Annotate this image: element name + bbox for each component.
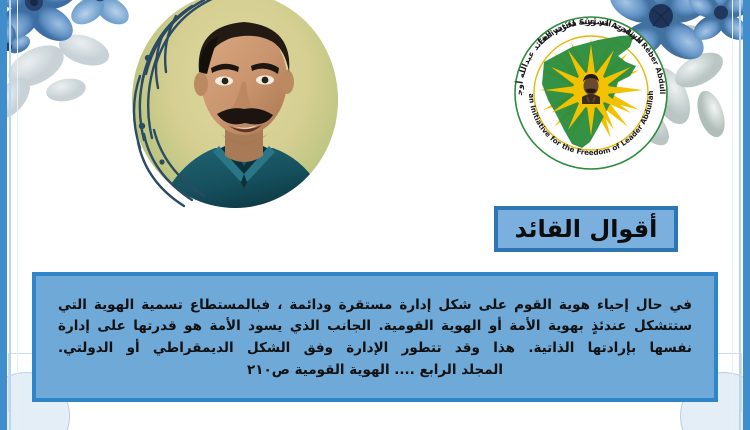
leader-portrait xyxy=(118,0,338,212)
quote-line: نفسها بإرادتها الذاتية. هذا وقد تتطور ال… xyxy=(58,342,692,356)
page-border-right-hairline xyxy=(732,0,733,430)
quote-panel: في حال إحياء هوية القوم على شكل إدارة مس… xyxy=(32,272,718,402)
logo-leader-portrait-icon xyxy=(582,74,600,104)
section-title-banner: أقوال القائد xyxy=(494,206,678,252)
flower-icon xyxy=(0,0,86,48)
page-border-left-hairline xyxy=(17,0,18,430)
page-border-right xyxy=(743,0,750,430)
organization-logo: المبادرة السورية لحرية القائد عبدالله أو… xyxy=(502,4,680,182)
section-title-text: أقوال القائد xyxy=(515,217,658,241)
poster-root: المبادرة السورية لحرية القائد عبدالله أو… xyxy=(0,0,750,430)
page-border-left-inner xyxy=(9,0,11,430)
quote-line: في حال إحياء هوية القوم على شكل إدارة مس… xyxy=(58,299,692,313)
page-border-left xyxy=(0,0,7,430)
quote-line: ستتشكل عندئذٍ بهوية الأمة أو الهوية القو… xyxy=(58,320,692,334)
portrait-leaf-frame-icon xyxy=(118,0,338,212)
page-border-right-inner xyxy=(739,0,741,430)
quote-citation: المجلد الرابع .... الهوية القومية ص٢١٠ xyxy=(58,364,692,378)
